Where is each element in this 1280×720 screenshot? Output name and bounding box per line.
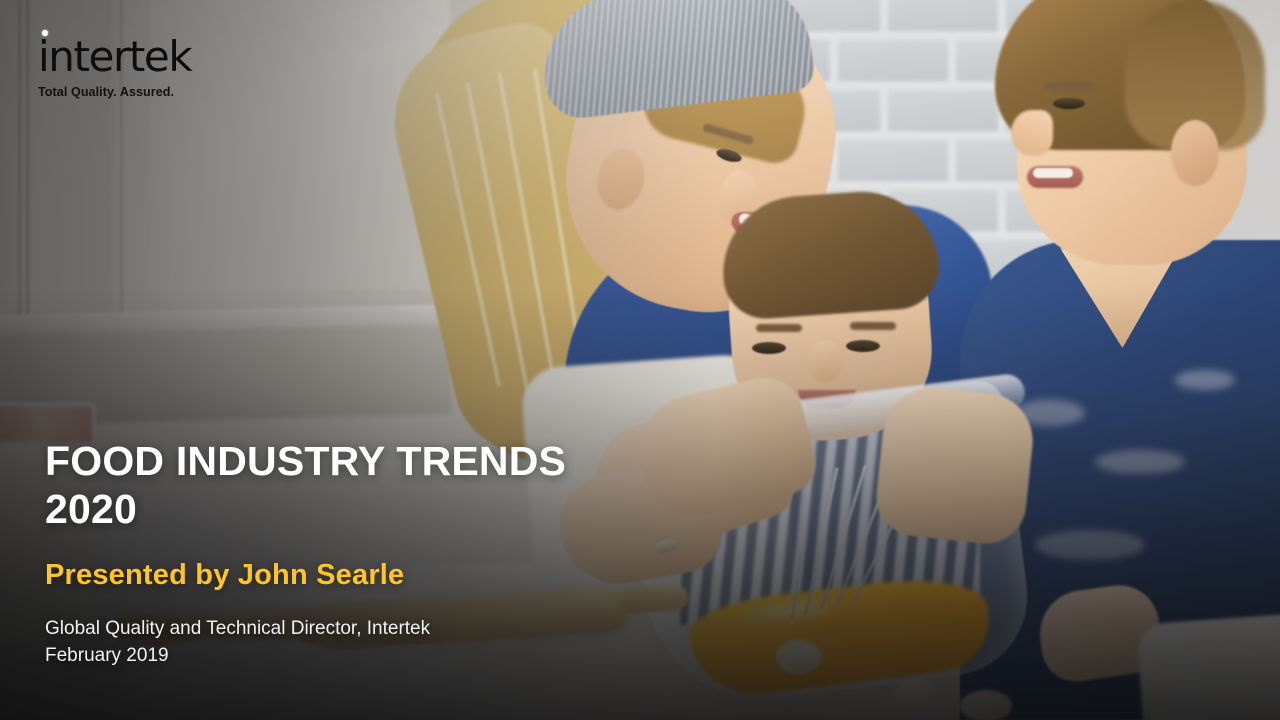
milk-label: [0, 406, 92, 442]
young-boy-hair: [718, 187, 942, 322]
dough-ball: [960, 690, 1012, 720]
white-dish: [1136, 612, 1280, 720]
logo-wordmark-text: intertek: [38, 32, 191, 81]
presenter-meta: Global Quality and Technical Director, I…: [45, 616, 685, 670]
logo-wordmark: intertek: [38, 36, 191, 78]
flour-mark: [1035, 530, 1145, 560]
young-boy-eyebrow: [756, 324, 802, 332]
presentation-date: February 2019: [45, 643, 685, 670]
young-boy-eye: [846, 340, 880, 352]
older-boy-nose: [1011, 110, 1053, 156]
presenter-role: Global Quality and Technical Director, I…: [45, 616, 685, 643]
older-boy-teeth: [1033, 168, 1073, 178]
presenter-line: Presented by John Searle: [45, 559, 685, 592]
page-title: FOOD INDUSTRY TRENDS 2020: [45, 438, 685, 533]
flour-mark: [1095, 450, 1185, 474]
older-boy-ear: [1171, 120, 1219, 186]
logo-dot-icon: [42, 30, 48, 36]
title-text-block: FOOD INDUSTRY TRENDS 2020 Presented by J…: [45, 438, 685, 670]
intertek-logo: intertek Total Quality. Assured.: [38, 36, 191, 99]
dough-ball: [896, 678, 936, 708]
older-boy-eyebrow: [1045, 82, 1093, 90]
young-boy-eyebrow: [850, 322, 896, 330]
older-boy-eye: [1053, 98, 1085, 109]
dough-ball: [776, 640, 822, 674]
flour-mark: [1175, 370, 1235, 390]
title-slide: intertek Total Quality. Assured. FOOD IN…: [0, 0, 1280, 720]
logo-tagline: Total Quality. Assured.: [38, 85, 191, 99]
young-boy-hand: [873, 383, 1038, 548]
young-boy-eye: [752, 342, 786, 354]
young-boy-nose: [808, 340, 842, 382]
